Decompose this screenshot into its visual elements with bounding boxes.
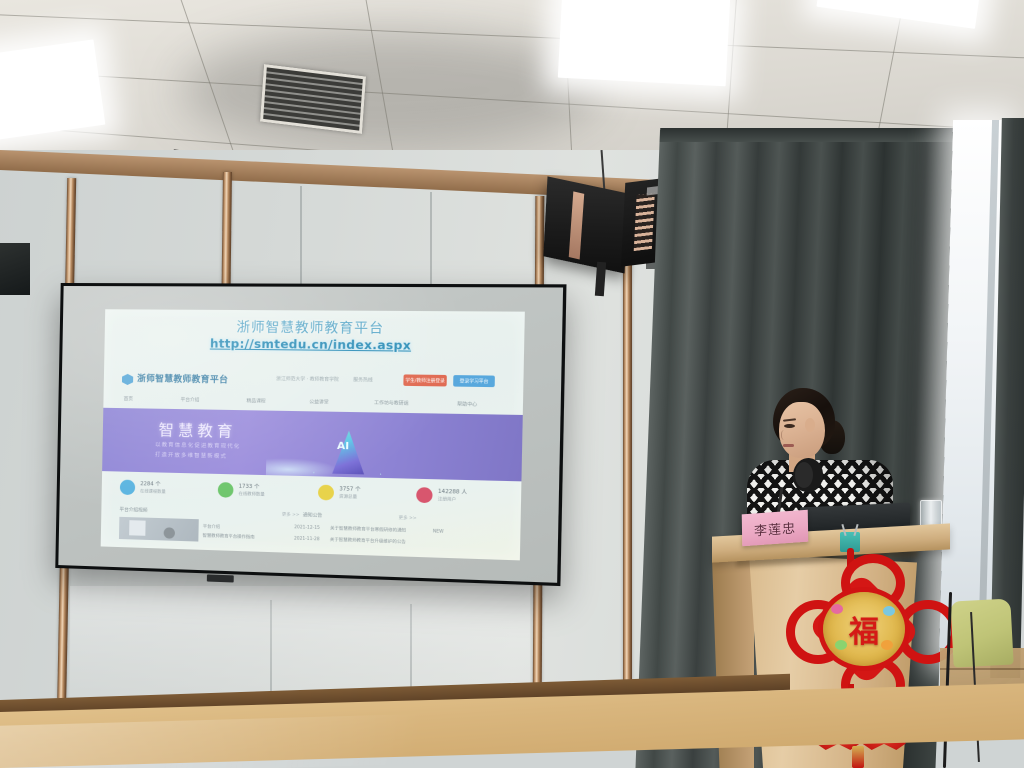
nav-item-4[interactable]: 工作坊与教研组: [374, 400, 409, 407]
stat-label-0: 在线课程数量: [140, 488, 166, 495]
nav-item-5[interactable]: 帮助中心: [457, 401, 477, 408]
hero-subtitle-2: 打造开放多维智慧新模式: [155, 451, 227, 460]
projection-screen: 浙师智慧教师教育平台 http://smtedu.cn/index.aspx 浙…: [55, 283, 566, 586]
stats-row: 2284 个 在线课程数量 1733 个 在线教师数量 3757 个 资源总量: [120, 479, 511, 512]
slide-url: http://smtedu.cn/index.aspx: [104, 335, 524, 353]
hero-title: 智慧教育: [158, 419, 236, 442]
screen-surface: 浙师智慧教师教育平台 http://smtedu.cn/index.aspx 浙…: [58, 286, 563, 583]
stat-value-2: 3757 个: [339, 485, 360, 493]
presenter-face: [779, 402, 825, 458]
ceiling-light-center: [558, 0, 730, 86]
stat-dot-0: [120, 480, 135, 496]
nav-item-1[interactable]: 平台介绍: [181, 397, 200, 403]
stat-label-3: 注册用户: [438, 496, 456, 503]
nav-item-3[interactable]: 公益讲堂: [309, 399, 329, 405]
knot-bottom-tassel: [852, 746, 864, 768]
knot-body: 福: [790, 568, 938, 692]
knot-medallion: 福: [823, 592, 905, 666]
register-button[interactable]: 学生/教师注册登录: [403, 374, 446, 386]
slide-title: 浙师智慧教师教育平台: [105, 315, 525, 338]
stat-item-3: 142288 人 注册用户: [416, 486, 510, 509]
speaker-face: [543, 176, 628, 273]
notice-text-1[interactable]: 关于智慧教师教育平台升级维护的公告: [330, 537, 406, 546]
curtain-rail: [660, 128, 961, 142]
notice-more-link[interactable]: 更多 >>: [399, 515, 417, 522]
wall-seam-2: [430, 192, 432, 284]
presenter-ear: [805, 418, 815, 432]
thumb-caption-2: 智慧教师教育平台操作指南: [203, 533, 255, 541]
notice-tag-0: NEW: [433, 528, 444, 534]
notice-date-0: 2021-12-15: [294, 524, 320, 530]
notice-section-header: 通知公告: [303, 512, 323, 519]
stat-item-0: 2284 个 在线课程数量: [120, 479, 208, 502]
notice-date-1: 2021-11-28: [294, 535, 320, 541]
site-hotline: 服务热线: [353, 377, 373, 383]
stat-label-2: 资源总量: [339, 493, 357, 500]
ceiling-light-left: [0, 39, 105, 142]
wall-dark-panel: [0, 243, 30, 295]
hero-subtitle-1: 以教育信息化促进教育现代化: [155, 441, 240, 450]
video-thumbnail[interactable]: [119, 517, 199, 542]
wall-trim-strip-4: [623, 204, 632, 709]
screen-weight-bar: [207, 574, 234, 582]
thumb-caption-1: 平台介绍: [203, 523, 220, 530]
notice-text-0[interactable]: 关于智慧教师教育平台寒假研修的通知: [330, 525, 406, 534]
site-subtitle: 浙江师范大学 · 教师教育学院: [276, 376, 339, 383]
login-button[interactable]: 登录学习平台: [453, 375, 495, 387]
chair-backrest: [950, 598, 1013, 667]
projected-slide: 浙师智慧教师教育平台 http://smtedu.cn/index.aspx 浙…: [101, 309, 525, 560]
stat-item-2: 3757 个 资源总量: [318, 484, 410, 507]
hexagon-logo-icon: [122, 374, 133, 385]
stat-value-3: 142288 人: [438, 488, 467, 496]
presenter-collar-inner: [795, 462, 813, 488]
nav-item-2[interactable]: 精品课程: [246, 398, 265, 404]
stat-dot-1: [218, 482, 234, 498]
site-name: 浙师智慧教师教育平台: [137, 372, 228, 385]
ceiling-vent-icon: [260, 64, 366, 134]
nav-item-0[interactable]: 首页: [124, 396, 133, 402]
fu-character: 福: [849, 607, 879, 651]
stat-value-1: 1733 个: [239, 483, 260, 491]
video-more-link[interactable]: 更多 >>: [282, 511, 300, 518]
stat-label-1: 在线教师数量: [238, 491, 264, 498]
stat-dot-2: [318, 485, 334, 501]
hero-banner: 智慧教育 以教育信息化促进教育现代化 打造开放多维智慧新模式 AI: [102, 408, 523, 482]
speaker-grill: [634, 193, 655, 251]
ai-badge-label: AI: [337, 441, 349, 453]
ai-triangle-icon: AI: [313, 416, 380, 475]
thumb-play-icon: [164, 527, 175, 538]
wall-seam-1: [300, 186, 302, 286]
stat-value-0: 2284 个: [140, 480, 161, 488]
thumb-image: [129, 520, 145, 536]
lecture-hall-photo: 浙师智慧教师教育平台 http://smtedu.cn/index.aspx 浙…: [0, 0, 1024, 768]
stat-dot-3: [416, 487, 433, 503]
video-section-header: 平台介绍视频: [119, 507, 147, 514]
ceiling-light-right: [816, 0, 983, 29]
stat-item-1: 1733 个 在线教师数量: [218, 481, 308, 504]
